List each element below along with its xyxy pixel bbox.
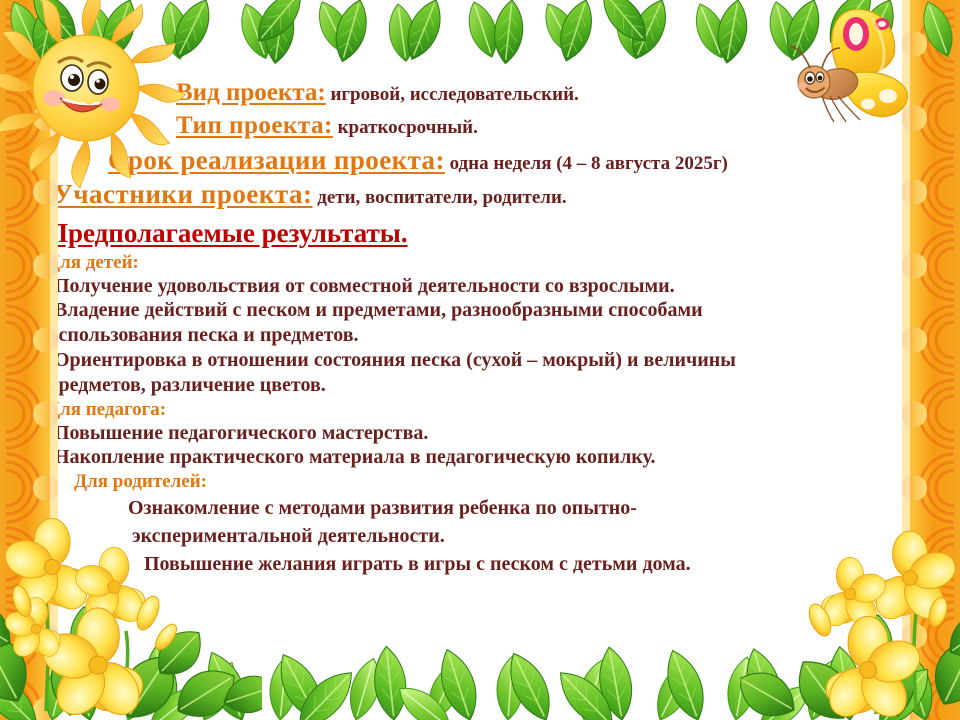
slide-content: Вид проекта: игровой, исследовательский.… — [46, 78, 918, 577]
project-kind-label: Вид проекта: — [176, 79, 326, 106]
project-kind-line: Вид проекта: игровой, исследовательский. — [46, 78, 918, 107]
project-term-value: одна неделя (4 – 8 августа 2025г) — [445, 153, 728, 174]
subheading-for-parents: Для родителей: — [74, 471, 918, 493]
project-participants-label: Участники проекта: — [53, 179, 312, 209]
result-item: Ознакомление с методами развития ребенка… — [128, 495, 918, 521]
result-item-continuation: экспериментальной деятельности. — [132, 523, 918, 549]
result-item: •Ориентировка в отношении состояния песк… — [47, 348, 918, 373]
subheading-for-teacher: Для педагога: — [47, 399, 918, 421]
project-type-line: Тип проекта: краткосрочный. — [46, 111, 918, 140]
project-term-line: Срок реализации проекта: одна неделя (4 … — [46, 145, 918, 177]
result-item: •Накопление практического материала в пе… — [47, 445, 918, 470]
project-type-label: Тип проекта: — [176, 112, 333, 139]
result-item: •Получение удовольствия от совместной де… — [47, 274, 918, 299]
project-participants-line: Участники проекта: дети, воспитатели, ро… — [46, 179, 918, 211]
result-item-continuation: предметов, различение цветов. — [47, 373, 918, 398]
project-kind-value: игровой, исследовательский. — [326, 84, 579, 105]
result-item: •Повышение педагогического мастерства. — [47, 421, 918, 446]
result-item: Повышение желания играть в игры с песком… — [144, 551, 918, 577]
result-item: •Владение действий с песком и предметами… — [47, 298, 918, 323]
expected-results-title: Предполагаемые результаты. — [47, 218, 408, 249]
subheading-for-children: Для детей: — [47, 252, 918, 274]
bottom-leaves-border — [0, 602, 960, 720]
project-participants-value: дети, воспитатели, родители. — [312, 187, 566, 208]
project-term-label: Срок реализации проекта: — [108, 145, 445, 175]
slide-canvas: Вид проекта: игровой, исследовательский.… — [0, 0, 960, 720]
result-item-continuation: использования песка и предметов. — [47, 323, 918, 348]
project-type-value: краткосрочный. — [333, 117, 478, 138]
